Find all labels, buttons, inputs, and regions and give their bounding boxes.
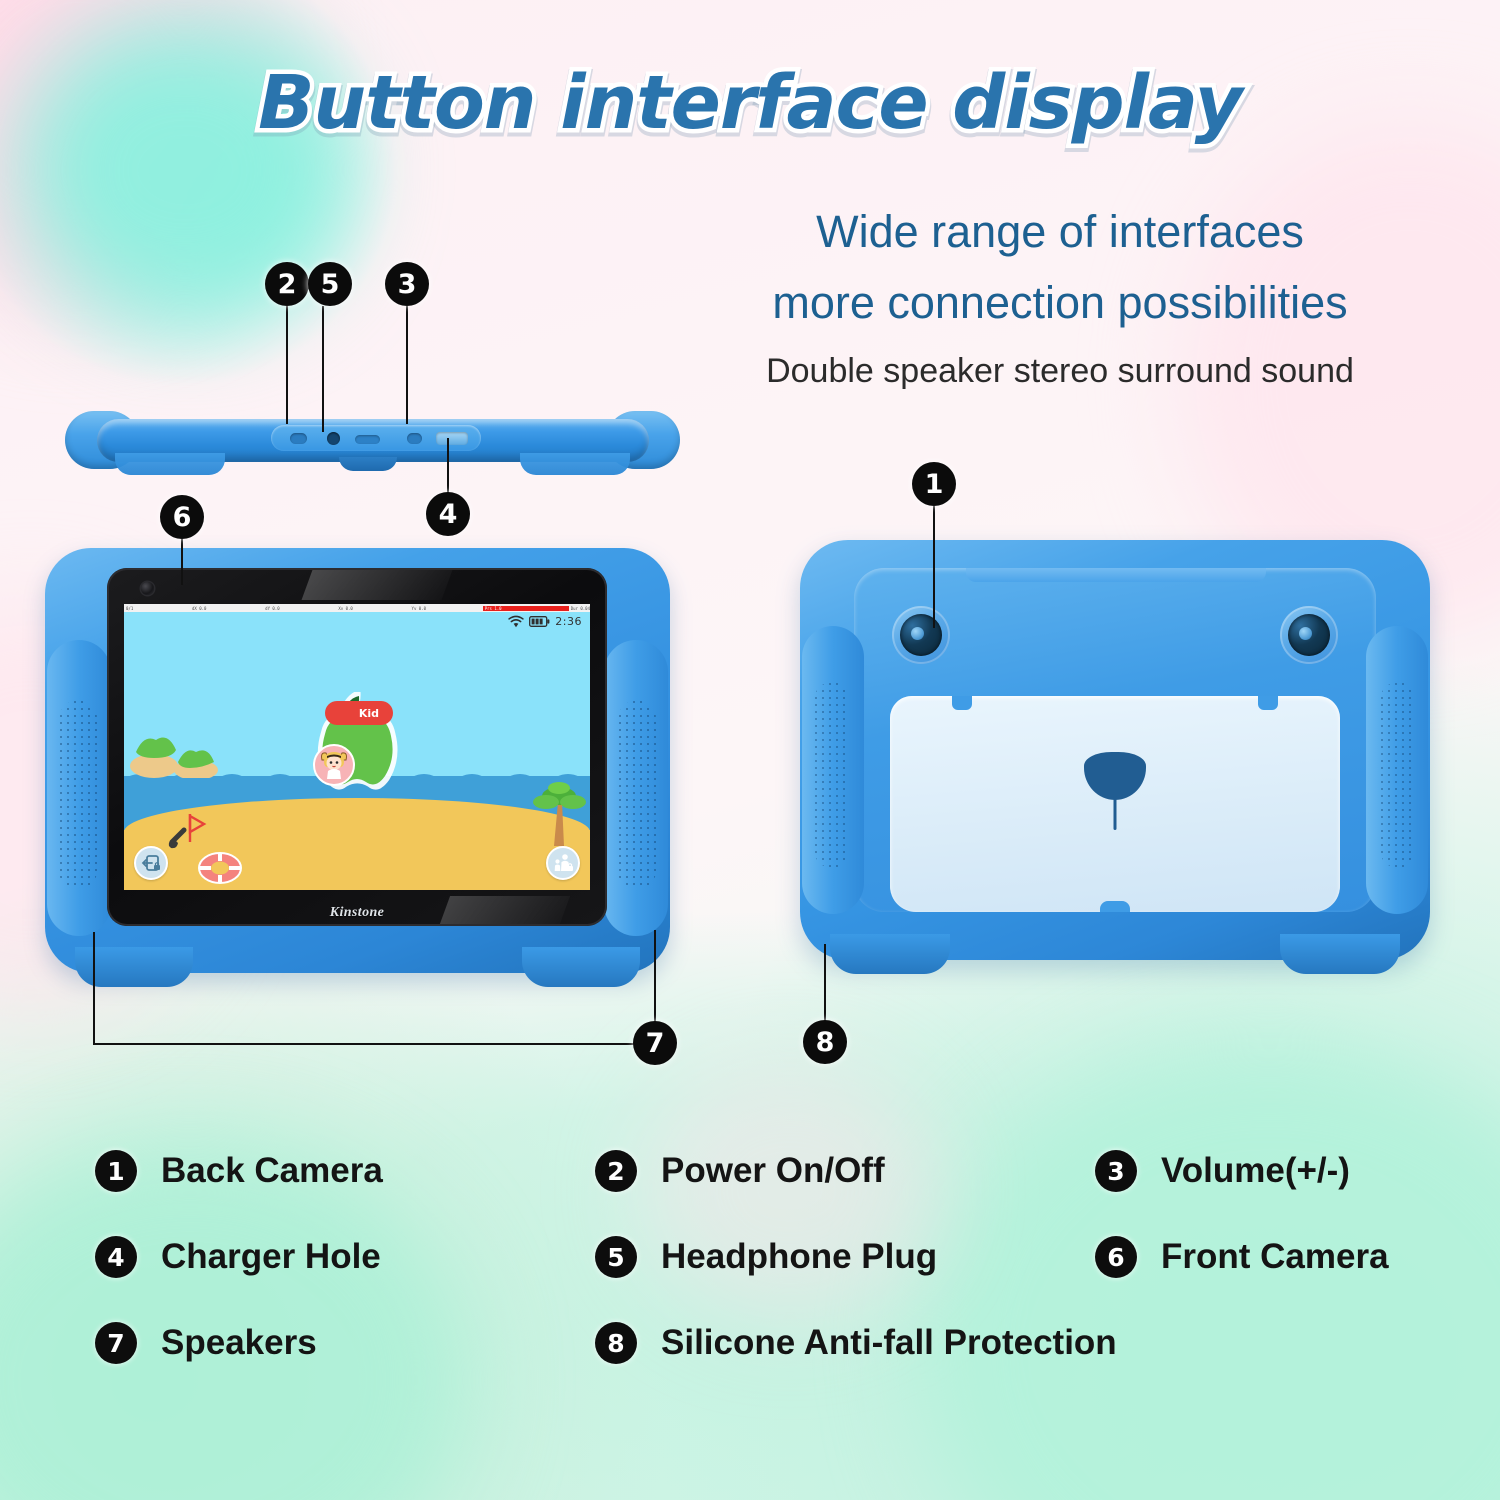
edge-center-bump [339, 457, 397, 471]
subtitle-line-3: Double speaker stereo surround sound [680, 352, 1440, 391]
legend-badge-8: 8 [595, 1322, 637, 1364]
tablet-screen[interactable]: Kid [124, 604, 590, 890]
subtitle-block: Wide range of interfaces more connection… [680, 196, 1440, 391]
charger-port[interactable] [436, 432, 468, 445]
back-foot-right [1280, 934, 1400, 974]
microphone-slot [355, 435, 380, 444]
tablet-back-view [800, 540, 1430, 960]
back-top-lip [966, 568, 1266, 582]
debug-seg-5: Prs 1.0 [483, 606, 569, 611]
bezel-glare-top [302, 570, 453, 600]
bear-muzzle-panel [890, 696, 1340, 912]
callout-badge-6: 6 [160, 495, 204, 539]
grip-left [47, 640, 111, 936]
legend-badge-2: 2 [595, 1150, 637, 1192]
callout-line-5 [322, 306, 324, 432]
back-camera-lens [900, 614, 942, 656]
legend-item-1: 1 Back Camera [95, 1150, 595, 1192]
back-foot-left [830, 934, 950, 974]
legend-badge-7: 7 [95, 1322, 137, 1364]
exit-lock-glyph [140, 852, 162, 874]
debug-seg-0: 0/1 [124, 606, 133, 611]
legend-label-8: Silicone Anti-fall Protection [661, 1323, 1117, 1363]
front-camera [141, 582, 154, 595]
speaker-grille-right [618, 700, 656, 890]
legend-label-7: Speakers [161, 1323, 317, 1363]
callout-line-8 [824, 944, 826, 1022]
debug-seg-6: Dur 0.04 [569, 606, 590, 611]
headphone-hole[interactable] [327, 432, 340, 445]
muzzle-tab-left [952, 696, 972, 710]
legend-label-3: Volume(+/-) [1161, 1151, 1350, 1191]
brand-logo: Kinstone [107, 905, 607, 921]
back-speaker-grille-right [1380, 682, 1416, 868]
back-grip-left [802, 626, 864, 914]
debug-seg-1: dX 0.0 [190, 606, 206, 611]
parental-control-glyph [552, 852, 574, 874]
legend-item-6: 6 Front Camera [1095, 1236, 1425, 1278]
back-speaker-grille-left [814, 682, 850, 868]
back-camera-secondary [1280, 606, 1338, 664]
parental-control-lock-icon[interactable] [546, 846, 580, 880]
back-grip-right [1366, 626, 1428, 914]
kid-profile-label: Kid [359, 707, 379, 720]
callout-badge-2: 2 [265, 262, 309, 306]
life-ring-icon [198, 852, 242, 884]
legend-label-4: Charger Hole [161, 1237, 381, 1277]
callout-line-2 [286, 306, 288, 424]
callout-line-1 [933, 506, 935, 628]
debug-seg-3: Xv 0.0 [336, 606, 352, 611]
palm-tree-icon [532, 776, 588, 848]
subtitle-line-2: more connection possibilities [680, 267, 1440, 338]
callout-badge-3: 3 [385, 262, 429, 306]
legend-row: 4 Charger Hole 5 Headphone Plug 6 Front … [95, 1236, 1425, 1278]
page-title: Button interface display [0, 60, 1500, 146]
callout-badge-4: 4 [426, 492, 470, 536]
child-avatar-icon [313, 744, 355, 786]
legend-item-4: 4 Charger Hole [95, 1236, 595, 1278]
power-button[interactable] [290, 433, 307, 444]
front-foot-right [522, 947, 640, 987]
island-rocks-icon [130, 732, 222, 778]
callout-line-4 [447, 438, 449, 494]
exit-lock-icon[interactable] [134, 846, 168, 880]
callout-badge-8: 8 [803, 1020, 847, 1064]
bear-nose [1084, 752, 1146, 800]
legend-badge-5: 5 [595, 1236, 637, 1278]
legend-row: 7 Speakers 8 Silicone Anti-fall Protecti… [95, 1322, 1425, 1364]
beach-toys-icon [168, 812, 212, 856]
edge-foot-left [115, 453, 225, 475]
debug-seg-2: dY 0.0 [263, 606, 279, 611]
callout-line-7-bridge [93, 1043, 655, 1045]
muzzle-tab-right [1258, 696, 1278, 710]
callout-badge-1: 1 [912, 462, 956, 506]
callout-badge-7: 7 [633, 1021, 677, 1065]
speaker-grille-left [59, 700, 97, 890]
callout-line-6 [181, 539, 183, 585]
battery-icon [529, 616, 550, 627]
kid-avatar-wrap [313, 744, 355, 786]
legend-badge-1: 1 [95, 1150, 137, 1192]
screen-bezel: Kinstone [107, 568, 607, 926]
legend-item-5: 5 Headphone Plug [595, 1236, 1095, 1278]
child-face-icon [318, 749, 350, 781]
callout-badge-5: 5 [308, 262, 352, 306]
bear-nose-line [1114, 796, 1117, 830]
background-blob-pink-top-left [0, 0, 290, 310]
legend-item-3: 3 Volume(+/-) [1095, 1150, 1425, 1192]
grip-right [604, 640, 668, 936]
infographic-page: Button interface display Button interfac… [0, 0, 1500, 1500]
muzzle-bottom-notch [1100, 901, 1130, 912]
legend-item-7: 7 Speakers [95, 1322, 595, 1364]
status-bar: 2:36 [508, 615, 582, 628]
back-camera [892, 606, 950, 664]
wifi-icon [508, 615, 524, 628]
tablet-top-edge-view [55, 405, 690, 480]
callout-line-7-left [93, 932, 95, 1044]
subtitle-line-1: Wide range of interfaces [680, 196, 1440, 267]
legend-item-2: 2 Power On/Off [595, 1150, 1095, 1192]
profile-launcher[interactable]: Kid [303, 692, 411, 802]
legend-row: 1 Back Camera 2 Power On/Off 3 Volume(+/… [95, 1150, 1425, 1192]
legend-badge-3: 3 [1095, 1150, 1137, 1192]
debug-seg-4: Yv 0.0 [410, 606, 426, 611]
callout-line-3 [406, 306, 408, 424]
legend: 1 Back Camera 2 Power On/Off 3 Volume(+/… [95, 1150, 1425, 1408]
tablet-front-view: Kinstone [45, 548, 670, 973]
legend-badge-4: 4 [95, 1236, 137, 1278]
debug-overlay-bar: 0/1 dX 0.0 dY 0.0 Xv 0.0 Yv 0.0 Prs 1.0 … [124, 604, 590, 612]
kid-profile-pill: Kid [325, 701, 393, 725]
legend-item-8: 8 Silicone Anti-fall Protection [595, 1322, 1095, 1364]
back-camera-secondary-lens [1288, 614, 1330, 656]
legend-label-5: Headphone Plug [661, 1237, 937, 1277]
legend-label-1: Back Camera [161, 1151, 383, 1191]
legend-label-2: Power On/Off [661, 1151, 885, 1191]
volume-button[interactable] [407, 433, 422, 444]
legend-label-6: Front Camera [1161, 1237, 1389, 1277]
legend-badge-6: 6 [1095, 1236, 1137, 1278]
edge-foot-right [520, 453, 630, 475]
status-clock: 2:36 [555, 615, 582, 628]
